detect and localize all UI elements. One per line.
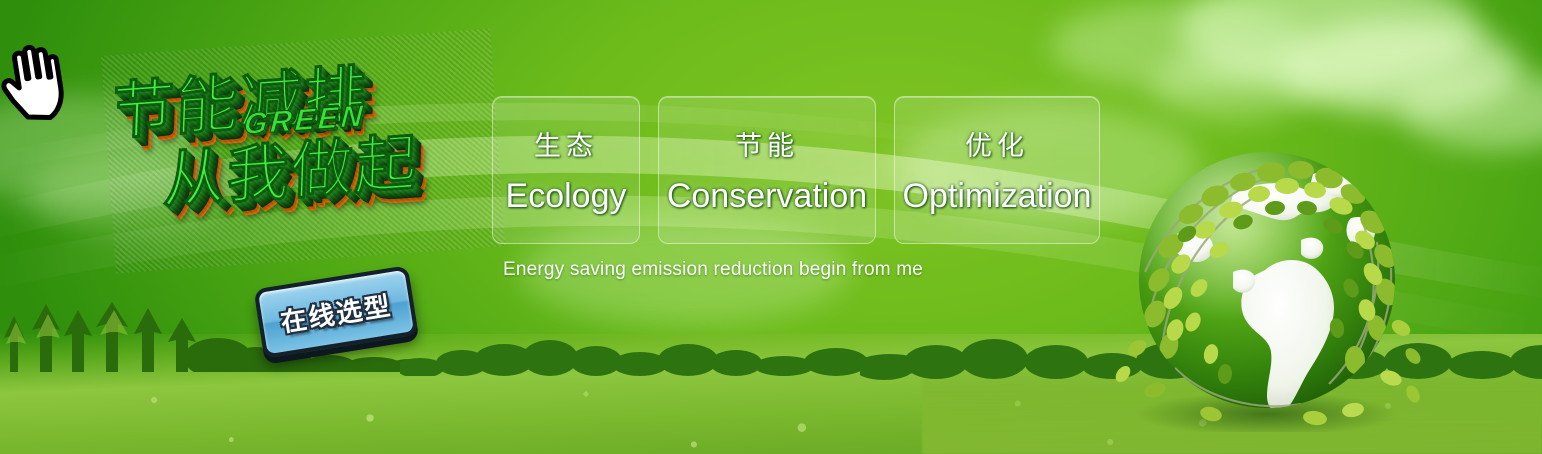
cloud-icon — [1150, 50, 1320, 120]
feature-card-title-en: Ecology — [506, 177, 627, 216]
feature-card-conservation[interactable]: 节能 Conservation — [658, 96, 876, 244]
cloud-icon — [1280, 20, 1520, 115]
feature-card-optimization[interactable]: 优化 Optimization — [894, 96, 1100, 244]
banner-tagline: Energy saving emission reduction begin f… — [503, 259, 923, 281]
cloud-icon — [1050, 0, 1310, 90]
cloud-icon — [1180, 0, 1480, 90]
feature-card-title-en: Optimization — [903, 177, 1092, 216]
feature-card-list: 生态 Ecology 节能 Conservation 优化 Optimizati… — [492, 96, 1100, 244]
feature-card-ecology[interactable]: 生态 Ecology — [492, 96, 640, 244]
feature-card-title-cn: 生态 — [534, 124, 598, 163]
headline-line-2: 从我做起 — [162, 112, 421, 220]
feature-card-title-en: Conservation — [667, 177, 867, 216]
headline-3d-artwork: 节能减排 GREEN 从我做起 — [101, 29, 505, 274]
feature-card-title-cn: 优化 — [965, 124, 1029, 163]
online-selection-label: 在线选型 — [278, 285, 394, 339]
pointing-hand-cursor-icon — [0, 36, 68, 122]
feature-card-title-cn: 节能 — [735, 124, 799, 163]
eco-promo-banner: 节能减排 GREEN 从我做起 在线选型 生态 Ecology 节能 Conse… — [0, 0, 1542, 454]
leafy-green-globe-icon — [1115, 122, 1425, 432]
